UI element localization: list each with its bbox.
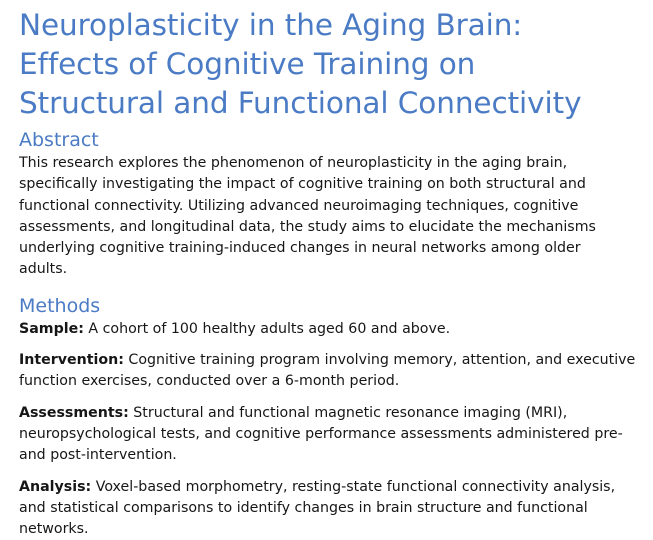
method-item-assessments: Assessments: Structural and functional m… <box>19 403 643 467</box>
document-page: Neuroplasticity in the Aging Brain: Effe… <box>0 0 653 514</box>
abstract-heading: Abstract <box>19 129 629 152</box>
method-text-sample: A cohort of 100 healthy adults aged 60 a… <box>84 321 450 337</box>
method-item-analysis: Analysis: Voxel-based morphometry, resti… <box>19 477 643 540</box>
method-label-intervention: Intervention: <box>19 352 124 368</box>
abstract-text: This research explores the phenomenon of… <box>19 153 629 281</box>
method-item-sample: Sample: A cohort of 100 healthy adults a… <box>19 319 643 340</box>
method-label-sample: Sample: <box>19 321 84 337</box>
page-title: Neuroplasticity in the Aging Brain: Effe… <box>19 6 643 123</box>
abstract-section: Abstract This research explores the phen… <box>19 129 643 281</box>
methods-heading: Methods <box>19 295 643 318</box>
method-label-assessments: Assessments: <box>19 405 129 421</box>
method-text-analysis: Voxel-based morphometry, resting-state f… <box>19 479 615 538</box>
methods-section: Methods Sample: A cohort of 100 healthy … <box>19 295 643 540</box>
method-item-intervention: Intervention: Cognitive training program… <box>19 350 643 393</box>
method-label-analysis: Analysis: <box>19 479 91 495</box>
